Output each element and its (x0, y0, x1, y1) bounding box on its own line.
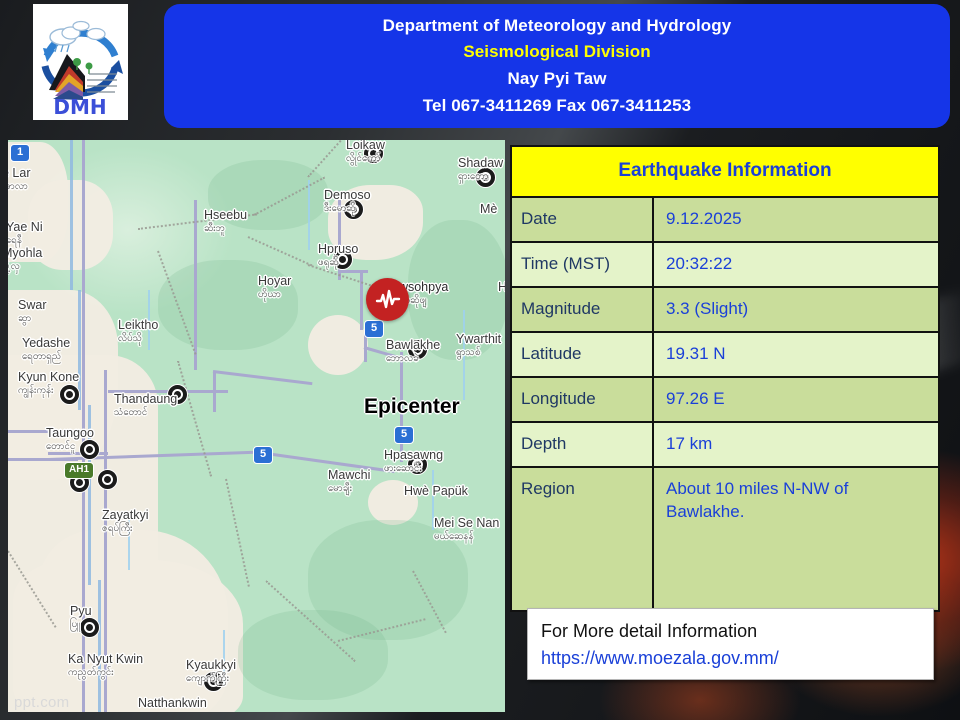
map-place-label: Kyun Koneကျွန်းကုန်း (18, 370, 79, 398)
map-place-label: Natthankwin (138, 696, 207, 710)
banner-line-department: Department of Meteorology and Hydrology (383, 14, 732, 39)
epicenter-label: Epicenter (364, 395, 460, 419)
seismograph-icon (375, 287, 401, 313)
row-label-time: Time (MST) (512, 243, 654, 286)
map-river (70, 140, 73, 290)
map-place-label: Thandaungသံတောင် (114, 392, 177, 420)
map-place-label: Hseebuဆီးဘူ (204, 208, 247, 236)
map-watermark: ppt.com (14, 694, 69, 711)
map-place-label: H (498, 280, 505, 294)
slide-canvas: DMH Department of Meteorology and Hydrol… (0, 0, 960, 720)
map-place-label: Zayatkyiဇရပ်ကြီး (102, 508, 149, 536)
map-place-label: Hpasawngဖားဆောင်း (384, 448, 443, 476)
banner-line-contact: Tel 067-3411269 Fax 067-3411253 (423, 94, 691, 119)
route-shield-5[interactable]: 5 (364, 320, 384, 338)
row-value-date: 9.12.2025 (654, 198, 938, 241)
row-value-latitude: 19.31 N (654, 333, 938, 376)
banner-line-city: Nay Pyi Taw (507, 67, 606, 92)
map-place-label: Bawlakheဘောလခဲ (386, 338, 440, 366)
row-label-depth: Depth (512, 423, 654, 466)
map-place-label: Mei Se Nanမယ်ဆေနန် (434, 516, 499, 544)
map-place-label: Mè (480, 202, 497, 216)
row-value-longitude: 97.26 E (654, 378, 938, 421)
dmh-logo-wordmark: DMH (53, 95, 106, 119)
row-label-date: Date (512, 198, 654, 241)
row-label-magnitude: Magnitude (512, 288, 654, 331)
map-place-label: Kyaukkyiကျောက်ကြီး (186, 658, 236, 686)
dmh-logo-icon: DMH (33, 4, 128, 120)
table-row: Magnitude 3.3 (Slight) (512, 288, 938, 333)
more-info-link[interactable]: https://www.moezala.gov.mm/ (541, 645, 933, 672)
row-value-region: About 10 miles N-NW of Bawlakhe. (654, 468, 938, 610)
table-row: Date 9.12.2025 (512, 198, 938, 243)
earthquake-location-map[interactable]: e Larအာလာ Yae Niရေနီ Myohlaမြို့လှ Swarဆ… (8, 140, 505, 712)
map-place-label: Swarဆွာ (18, 298, 46, 326)
map-place-label: Hwè Papük (404, 484, 468, 498)
row-label-longitude: Longitude (512, 378, 654, 421)
map-place-label: Yedasheရေတာရှည် (22, 336, 70, 364)
map-place-label: Loikawလွိုင်ကော် (346, 140, 385, 166)
dmh-logo: DMH (33, 4, 128, 120)
map-city-marker[interactable] (98, 470, 117, 489)
earthquake-info-table: Earthquake Information Date 9.12.2025 Ti… (510, 145, 940, 612)
map-place-label: Hoyarဟိုယာ (258, 274, 291, 302)
map-road (213, 372, 216, 412)
map-river (98, 580, 101, 712)
map-road (360, 270, 363, 330)
map-plain-area (308, 315, 368, 375)
map-place-label: Mawchiမောချီး (328, 468, 370, 496)
table-row: Region About 10 miles N-NW of Bawlakhe. (512, 468, 938, 610)
map-place-label: Ywarthitရွာသစ် (456, 332, 501, 360)
map-road (194, 310, 197, 370)
map-road (340, 270, 368, 273)
map-place-label: e Larအာလာ (8, 166, 31, 194)
map-place-label: Pyuပြူ (70, 604, 92, 632)
map-place-label: Ka Nyut Kwinကညွတ်ကွင်း (68, 652, 143, 680)
map-place-label: Taungooတောင်ငူ (46, 426, 94, 454)
row-label-region: Region (512, 468, 654, 610)
table-title: Earthquake Information (512, 147, 938, 198)
banner-line-division: Seismological Division (463, 40, 650, 65)
table-row: Depth 17 km (512, 423, 938, 468)
map-road (194, 200, 197, 312)
table-row: Longitude 97.26 E (512, 378, 938, 423)
map-river (308, 180, 310, 250)
map-place-label: Yae Niရေနီ (8, 220, 43, 248)
map-place-label: Shadawရှားတော (458, 156, 503, 184)
map-place-label: Demosoဒီးမောဆို (324, 188, 371, 216)
map-place-label: Hprusoဖရုဆို (318, 242, 358, 270)
more-info-text: For More detail Information (541, 618, 933, 645)
route-shield-5[interactable]: 5 (394, 426, 414, 444)
table-row: Time (MST) 20:32:22 (512, 243, 938, 288)
map-place-label: Myohlaမြို့လှ (8, 246, 42, 274)
route-shield-5[interactable]: 5 (253, 446, 273, 464)
row-value-depth: 17 km (654, 423, 938, 466)
header-banner: Department of Meteorology and Hydrology … (164, 4, 950, 128)
table-row: Latitude 19.31 N (512, 333, 938, 378)
row-value-time: 20:32:22 (654, 243, 938, 286)
epicenter-marker[interactable] (366, 278, 409, 321)
route-shield-1[interactable]: 1 (10, 144, 30, 162)
route-shield-ah1[interactable]: AH1 (64, 462, 94, 479)
row-value-magnitude: 3.3 (Slight) (654, 288, 938, 331)
map-place-label: Leikthoလိပ်သို (118, 318, 158, 346)
row-label-latitude: Latitude (512, 333, 654, 376)
more-information-box: For More detail Information https://www.… (527, 608, 934, 680)
